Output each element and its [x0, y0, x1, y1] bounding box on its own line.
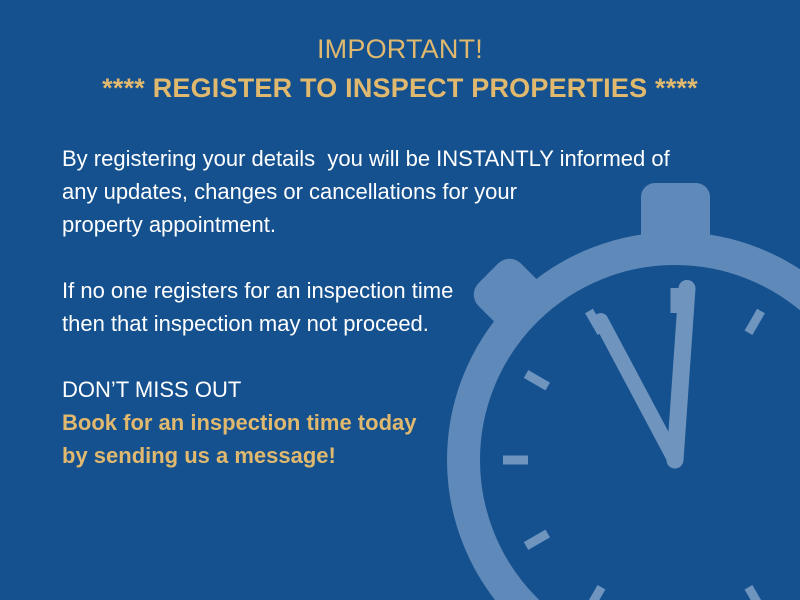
cta-dont-miss-out: DON’T MISS OUT — [62, 373, 722, 406]
paragraph-spacer-2 — [62, 340, 722, 373]
heading-block: IMPORTANT! **** REGISTER TO INSPECT PROP… — [0, 30, 800, 108]
paragraph1-line3: property appointment. — [62, 208, 722, 241]
paragraph2-line1: If no one registers for an inspection ti… — [62, 274, 722, 307]
page-title-important: IMPORTANT! — [0, 30, 800, 68]
body-block: By registering your details you will be … — [62, 142, 722, 472]
page-title-register: **** REGISTER TO INSPECT PROPERTIES **** — [0, 68, 800, 108]
paragraph1-line2: any updates, changes or cancellations fo… — [62, 175, 722, 208]
slide-canvas: IMPORTANT! **** REGISTER TO INSPECT PROP… — [0, 0, 800, 600]
cta-send-message: by sending us a message! — [62, 439, 722, 472]
content-layer: IMPORTANT! **** REGISTER TO INSPECT PROP… — [0, 0, 800, 600]
paragraph-spacer-1 — [62, 241, 722, 274]
paragraph1-line1: By registering your details you will be … — [62, 142, 722, 175]
cta-book-inspection: Book for an inspection time today — [62, 406, 722, 439]
paragraph2-line2: then that inspection may not proceed. — [62, 307, 722, 340]
